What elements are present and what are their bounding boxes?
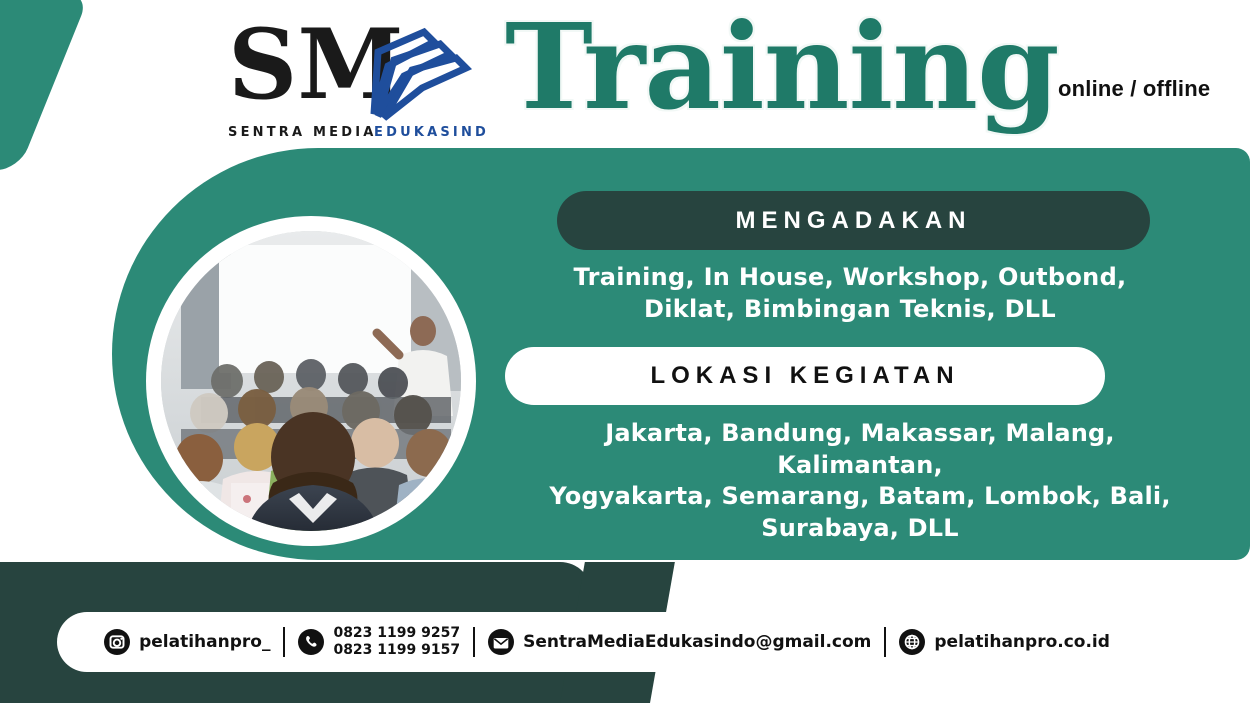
locations-line-1: Jakarta, Bandung, Makassar, Malang, Kali… xyxy=(530,418,1190,481)
badge-lokasi-kegiatan-label: LOKASI KEGIATAN xyxy=(650,362,959,390)
instagram-handle: pelatihanpro_ xyxy=(139,632,270,652)
services-list: Training, In House, Workshop, Outbond, D… xyxy=(540,262,1160,325)
globe-icon xyxy=(899,629,925,655)
services-line-1: Training, In House, Workshop, Outbond, xyxy=(540,262,1160,294)
mode-tagline: online / offline xyxy=(1058,76,1210,102)
contact-phone[interactable]: 0823 1199 9257 0823 1199 9157 xyxy=(285,625,473,658)
contact-email[interactable]: SentraMediaEdukasindo@gmail.com xyxy=(475,629,884,655)
locations-line-3: Surabaya, DLL xyxy=(530,513,1190,545)
contact-instagram[interactable]: pelatihanpro_ xyxy=(91,629,283,655)
footer-contacts: pelatihanpro_ 0823 1199 9257 0823 1199 9… xyxy=(57,612,1157,672)
phone-number-2: 0823 1199 9157 xyxy=(333,642,460,658)
locations-line-2: Yogyakarta, Semarang, Batam, Lombok, Bal… xyxy=(530,481,1190,513)
logo-wordmark-1: SENTRA MEDIA xyxy=(228,125,377,140)
instagram-icon xyxy=(104,629,130,655)
brand-logo: SM SENTRA MEDIA EDUKASINDO xyxy=(228,18,488,140)
page-title: Training xyxy=(505,8,1059,126)
phone-numbers: 0823 1199 9257 0823 1199 9157 xyxy=(333,625,460,658)
poster-canvas: SM SENTRA MEDIA EDUKASINDO Training onli… xyxy=(0,0,1250,703)
email-address: SentraMediaEdukasindo@gmail.com xyxy=(523,632,871,652)
logo-wordmark-2: EDUKASINDO xyxy=(374,125,488,140)
phone-number-1: 0823 1199 9257 xyxy=(333,625,460,641)
locations-list: Jakarta, Bandung, Makassar, Malang, Kali… xyxy=(530,418,1190,545)
badge-lokasi-kegiatan: LOKASI KEGIATAN xyxy=(505,347,1105,405)
website-url: pelatihanpro.co.id xyxy=(934,632,1110,652)
services-line-2: Diklat, Bimbingan Teknis, DLL xyxy=(540,294,1160,326)
email-icon xyxy=(488,629,514,655)
contact-website[interactable]: pelatihanpro.co.id xyxy=(886,629,1123,655)
corner-chevron-decoration xyxy=(0,0,90,170)
seminar-audience-photo xyxy=(161,231,461,531)
phone-icon xyxy=(298,629,324,655)
badge-mengadakan: MENGADAKAN xyxy=(557,191,1150,250)
badge-mengadakan-label: MENGADAKAN xyxy=(736,207,972,235)
